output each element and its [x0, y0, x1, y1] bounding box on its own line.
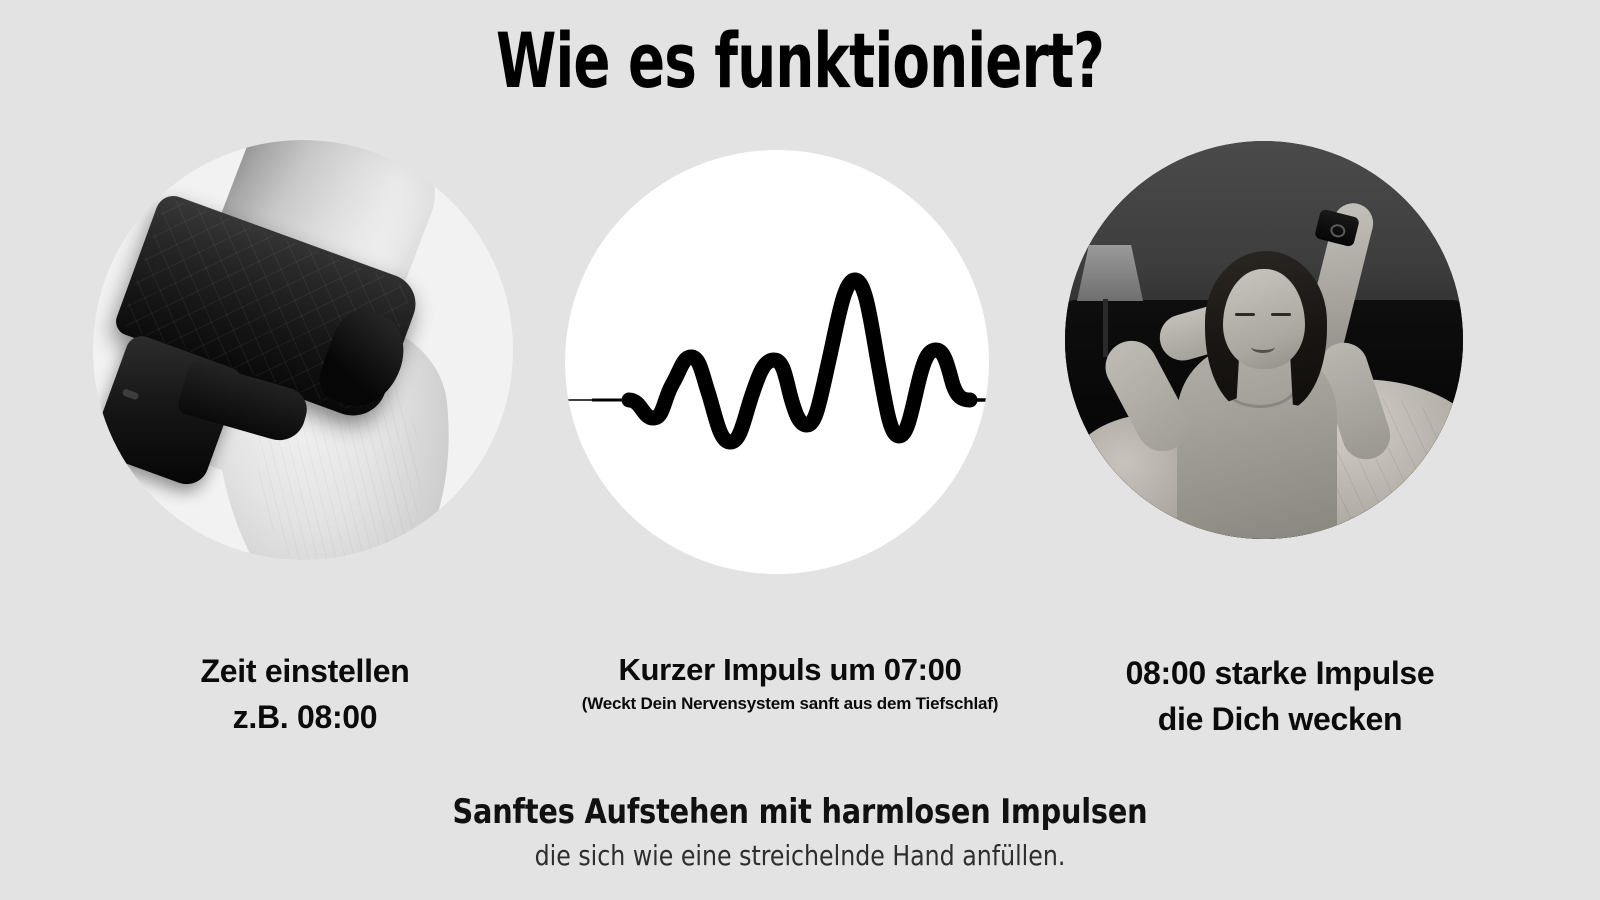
footer-subline: die sich wie eine streichelnde Hand anfü…	[48, 838, 1552, 874]
right-eye-shape	[1271, 313, 1291, 316]
step-3-caption: 08:00 starke Impulse die Dich wecken	[1045, 650, 1515, 742]
head-shape	[1223, 269, 1305, 369]
steps-row: Zeit einstellen z.B. 08:00 Kurzer Impuls…	[0, 0, 1600, 900]
left-eye-shape	[1235, 313, 1255, 316]
wake-up-photo	[1065, 141, 1463, 539]
wrist-illustration	[93, 140, 513, 560]
wristband-photo	[93, 140, 513, 560]
step-1-caption-line-2: z.B. 08:00	[55, 694, 555, 740]
pulse-waveform-icon	[565, 240, 989, 480]
footer-headline: Sanftes Aufstehen mit harmlosen Impulsen	[48, 790, 1552, 834]
step-2-caption-line-1: Kurzer Impuls um 07:00	[545, 650, 1035, 690]
pulse-graphic	[565, 150, 989, 574]
footer-block: Sanftes Aufstehen mit harmlosen Impulsen…	[0, 790, 1600, 874]
step-2-caption: Kurzer Impuls um 07:00 (Weckt Dein Nerve…	[545, 650, 1035, 718]
bedroom-scene	[1065, 141, 1463, 539]
lamp-stem-shape	[1103, 299, 1108, 357]
step-2-caption-sub: (Weckt Dein Nervensystem sanft aus dem T…	[545, 690, 1035, 718]
step-3-caption-line-1: 08:00 starke Impulse	[1045, 650, 1515, 696]
lamp-icon	[1077, 245, 1143, 301]
step-1-caption-line-1: Zeit einstellen	[55, 648, 555, 694]
mouth-shape	[1251, 341, 1275, 353]
step-3-caption-line-2: die Dich wecken	[1045, 696, 1515, 742]
step-1-caption: Zeit einstellen z.B. 08:00	[55, 648, 555, 740]
